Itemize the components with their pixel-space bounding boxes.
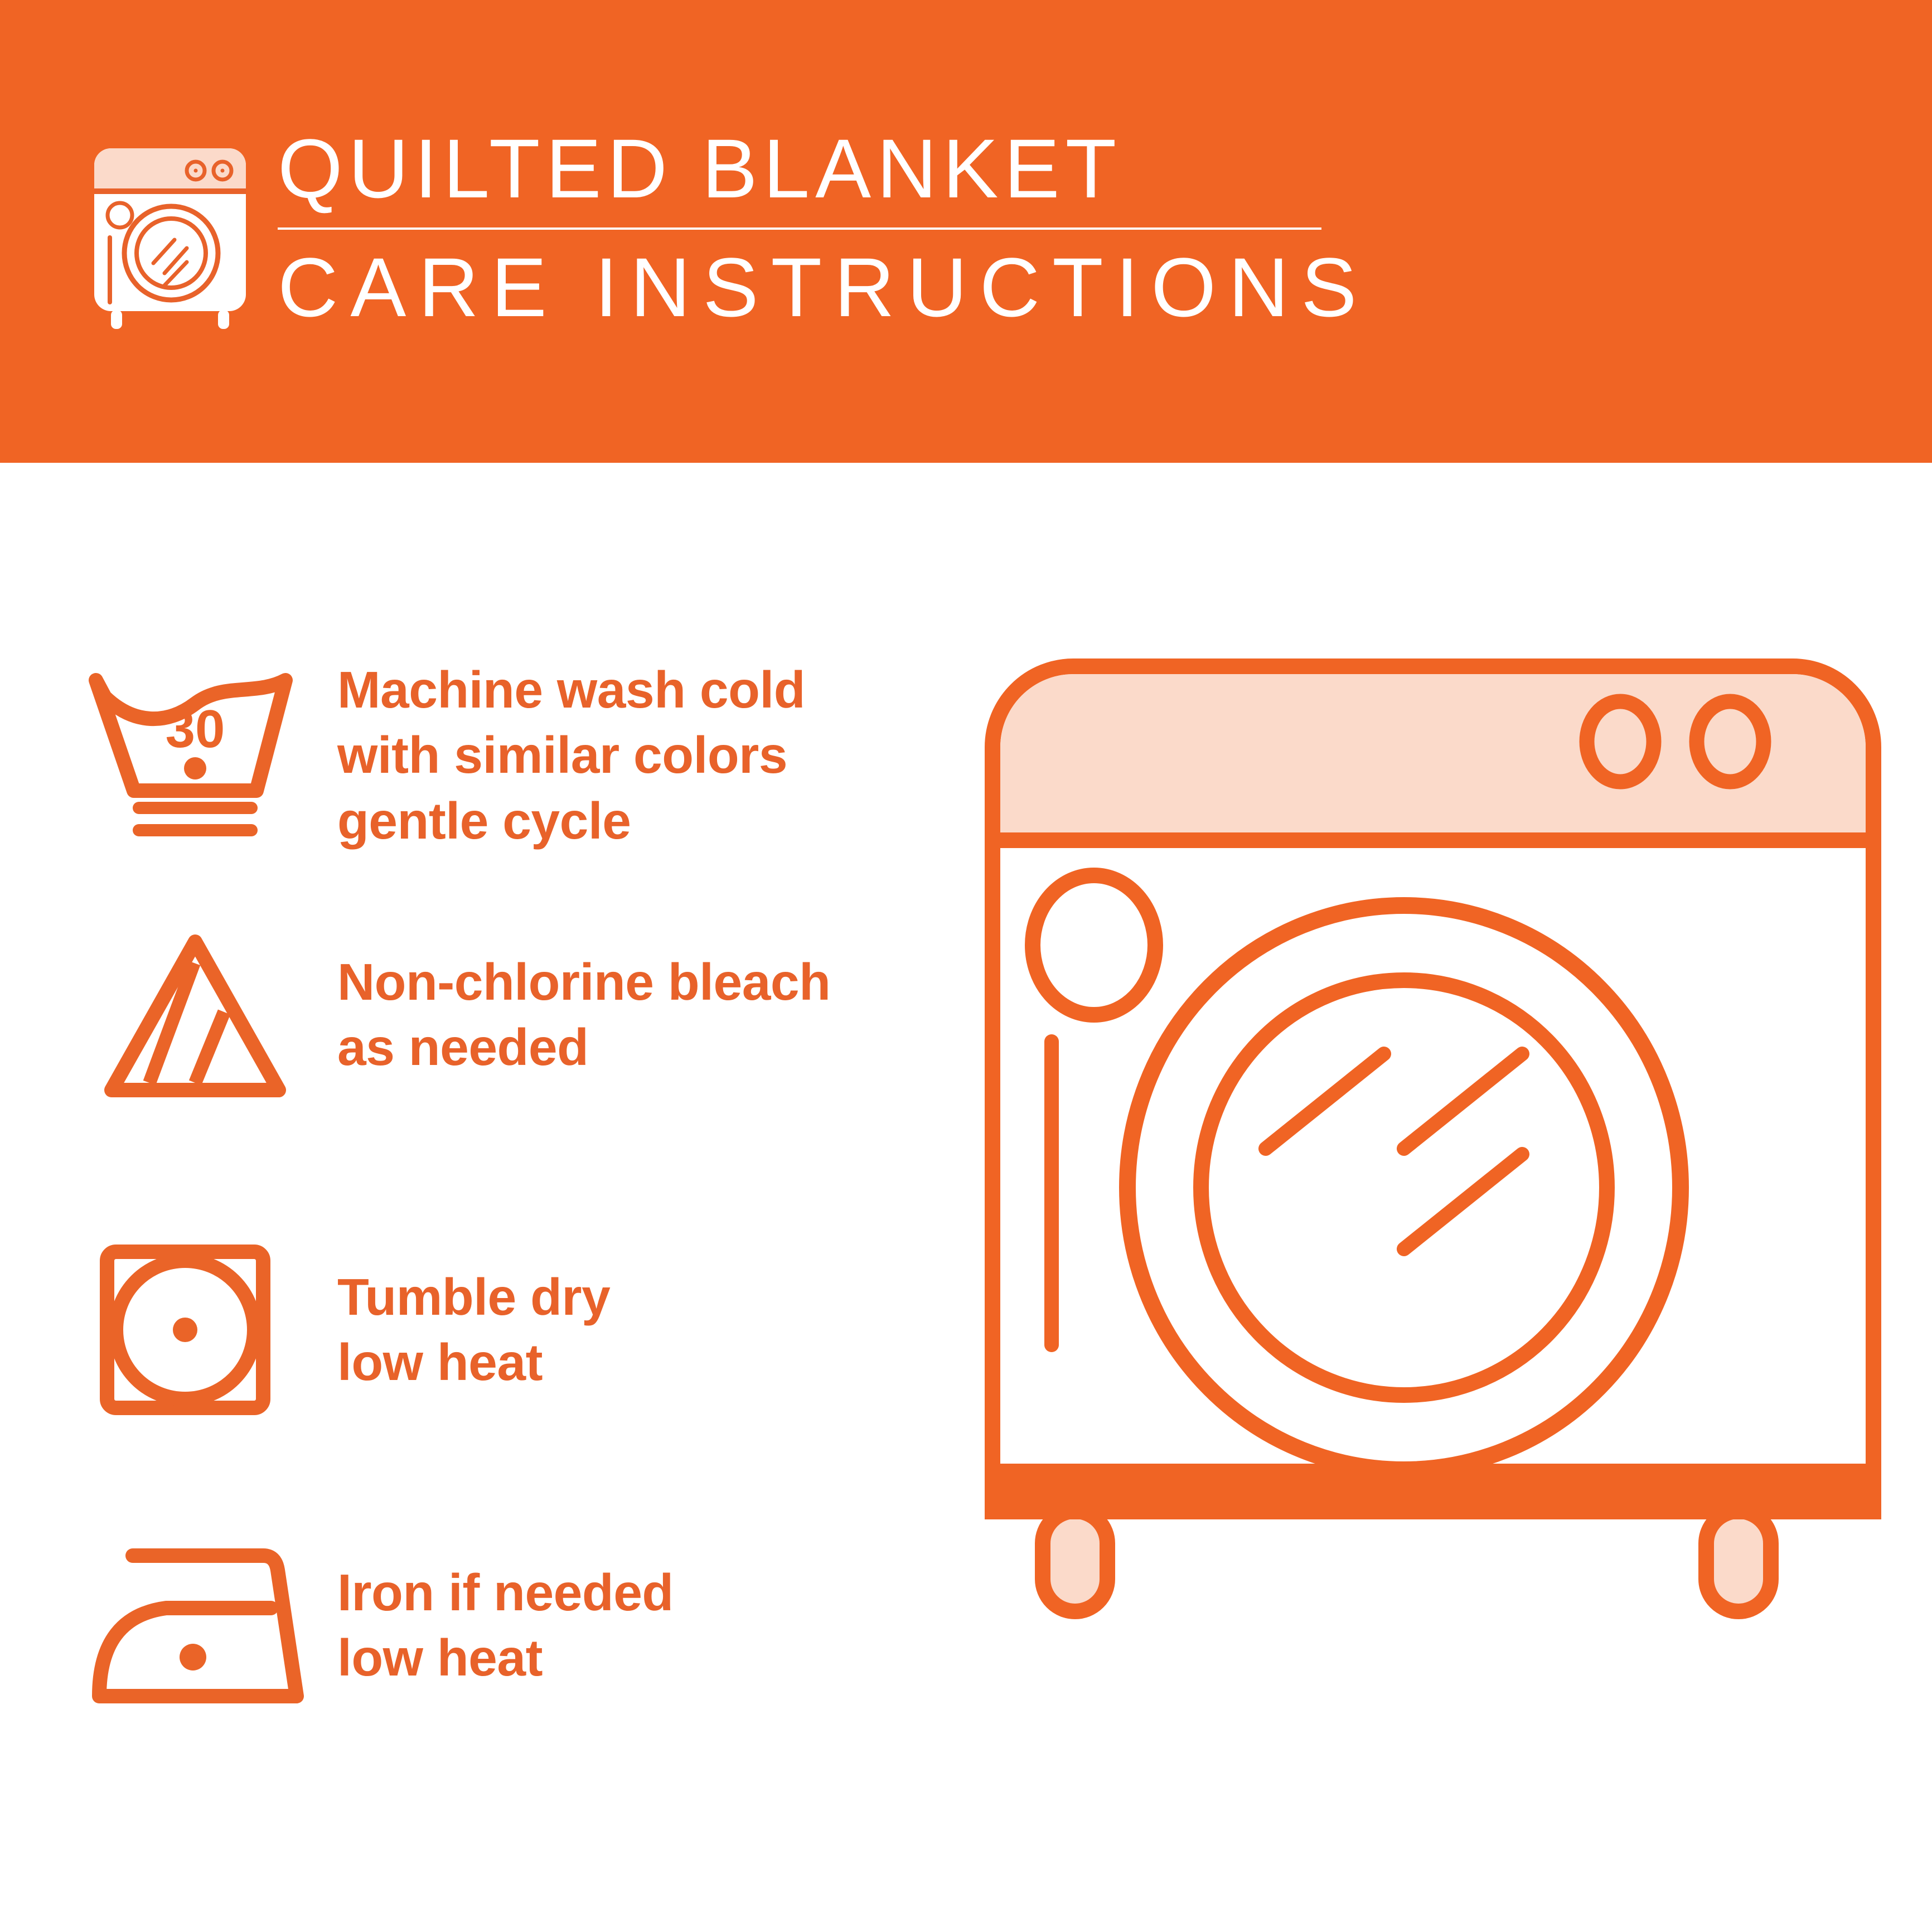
care-line: Non-chlorine bleach — [337, 950, 830, 1015]
care-row: Non-chlorine bleach as needed — [0, 914, 948, 1115]
knob-left — [1587, 701, 1654, 782]
leg-left — [1043, 1511, 1107, 1611]
care-line: Machine wash cold — [337, 657, 805, 723]
care-line: low heat — [337, 1330, 610, 1395]
iron-low-heat-icon — [84, 1525, 323, 1726]
page-title: QUILTED BLANKET — [278, 125, 1326, 212]
svg-text:30: 30 — [166, 699, 225, 759]
care-line: as needed — [337, 1015, 830, 1080]
wash-tub-30-gentle-icon: 30 — [84, 655, 323, 856]
header-title-group: QUILTED BLANKET CARE INSTRUCTIONS — [278, 125, 1326, 330]
care-row: Iron if needed low heat — [0, 1525, 948, 1726]
washing-machine-illustration — [970, 644, 1896, 1876]
care-row-label: Non-chlorine bleach as needed — [337, 950, 830, 1080]
indicator-bar — [1044, 1034, 1059, 1352]
care-line: with similar colors — [337, 723, 805, 788]
header-banner: QUILTED BLANKET CARE INSTRUCTIONS — [0, 0, 1932, 463]
knob-right — [1697, 701, 1764, 782]
leg-right — [1706, 1511, 1771, 1611]
care-row-label: Tumble dry low heat — [337, 1265, 610, 1395]
care-row: 30 Machine wash cold with similar colors… — [0, 655, 948, 856]
care-line: gentle cycle — [337, 788, 805, 854]
care-line: low heat — [337, 1625, 674, 1691]
machine-base — [985, 1464, 1881, 1519]
washing-machine-icon — [86, 139, 254, 332]
care-line: Tumble dry — [337, 1265, 610, 1330]
title-divider — [278, 227, 1321, 230]
care-row-label: Iron if needed low heat — [337, 1560, 674, 1691]
bleach-triangle-non-chlorine-icon — [84, 914, 323, 1115]
tumble-dry-low-heat-icon — [84, 1229, 323, 1430]
care-row-label: Machine wash cold with similar colors ge… — [337, 657, 805, 854]
care-line: Iron if needed — [337, 1560, 674, 1625]
care-row: Tumble dry low heat — [0, 1229, 948, 1430]
page-subtitle: CARE INSTRUCTIONS — [278, 244, 1326, 331]
